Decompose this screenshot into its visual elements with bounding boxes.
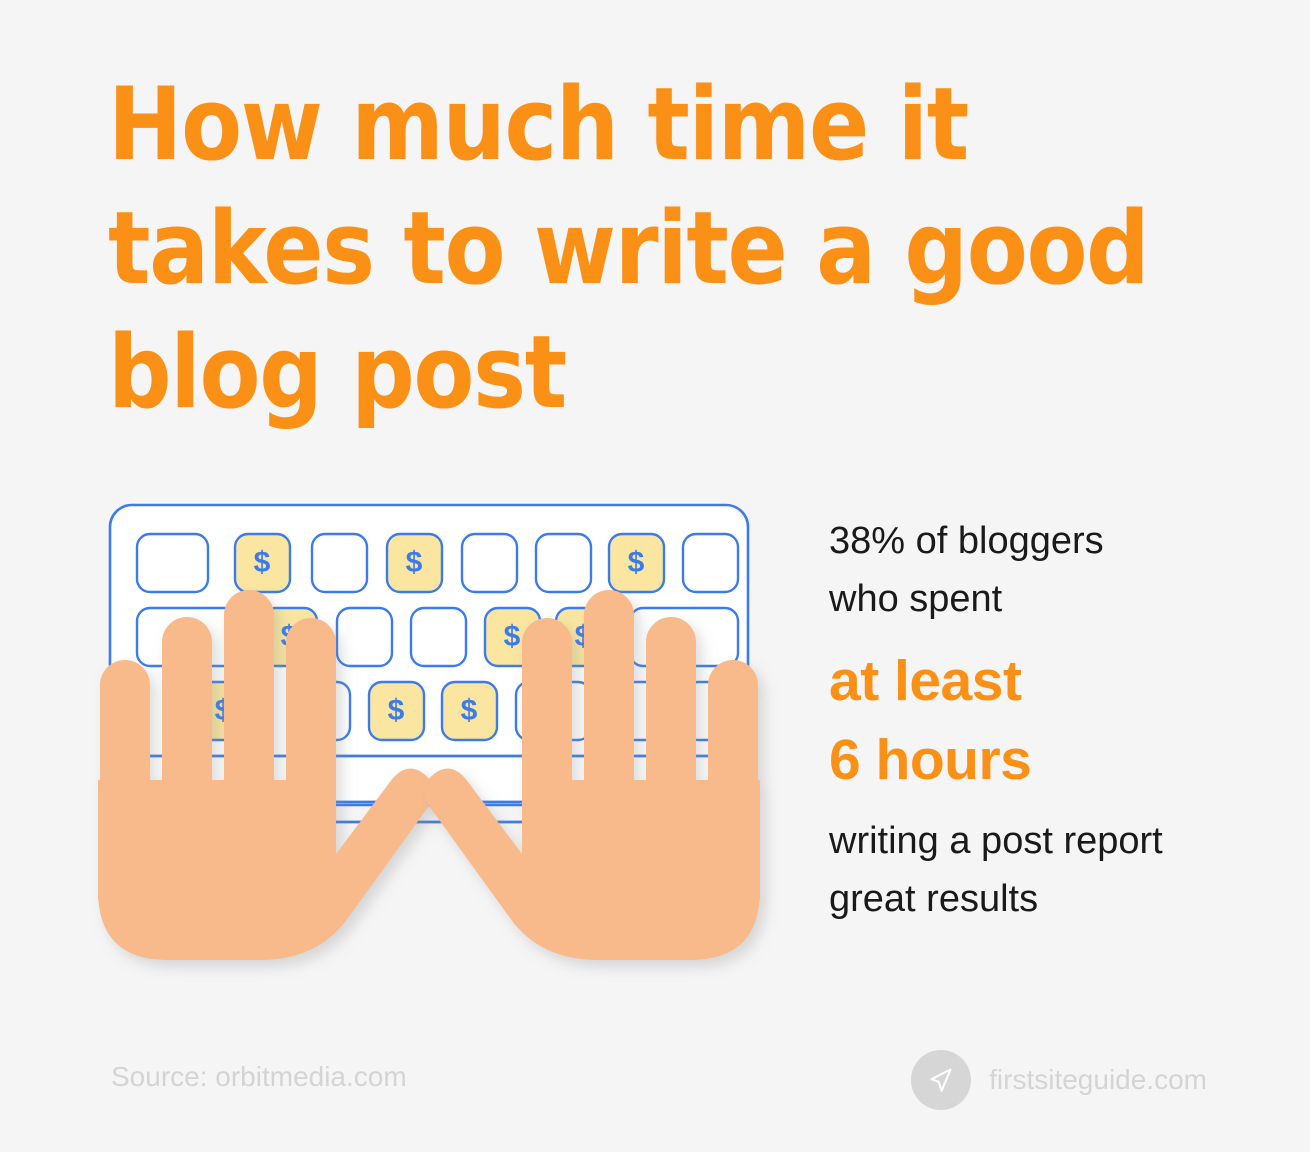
stat-line-3: writing a post report xyxy=(829,800,1249,870)
page-title: How much time it takes to write a good b… xyxy=(108,62,1094,434)
headline-line-1: How much time it xyxy=(108,62,1094,186)
svg-text:$: $ xyxy=(406,546,423,579)
svg-text:$: $ xyxy=(254,546,271,579)
headline-line-2: takes to write a good xyxy=(108,186,1094,310)
hands-typing-illustration: $ $ $ $ $ xyxy=(90,490,790,990)
source-attribution: Source: orbitmedia.com xyxy=(111,1061,407,1093)
svg-text:$: $ xyxy=(388,694,405,727)
svg-text:$: $ xyxy=(504,620,521,653)
brand-name-label: firstsiteguide.com xyxy=(989,1064,1207,1096)
headline-line-3: blog post xyxy=(108,310,1094,434)
stat-highlight-2: 6 hours xyxy=(829,721,1249,800)
svg-text:$: $ xyxy=(628,546,645,579)
brand-watermark: firstsiteguide.com xyxy=(911,1050,1207,1110)
infographic-canvas: How much time it takes to write a good b… xyxy=(0,0,1310,1152)
send-arrow-icon xyxy=(911,1050,971,1110)
stat-highlight-1: at least xyxy=(829,628,1249,721)
stat-line-2: who spent xyxy=(829,570,1249,628)
stat-line-1: 38% of bloggers xyxy=(829,512,1249,570)
stat-callout: 38% of bloggers who spent at least 6 hou… xyxy=(829,512,1249,928)
svg-text:$: $ xyxy=(461,694,478,727)
stat-line-4: great results xyxy=(829,870,1249,928)
